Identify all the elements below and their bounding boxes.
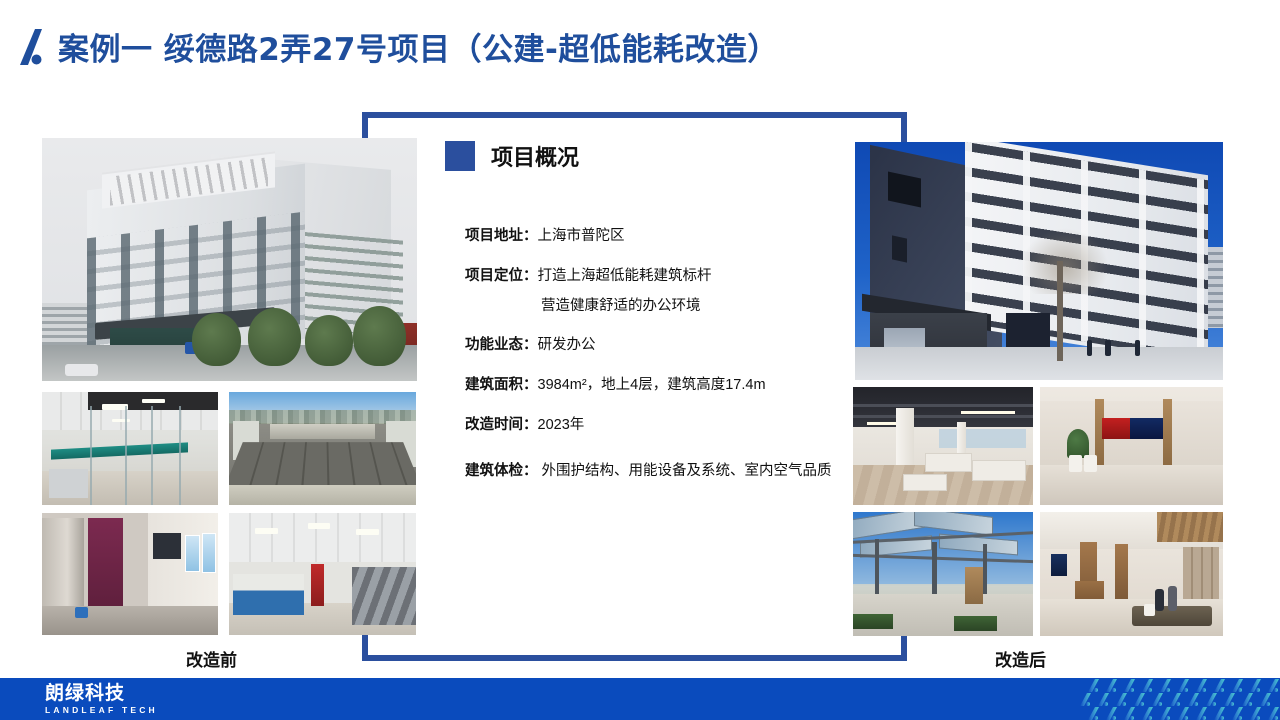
field-value: 打造上海超低能耗建筑标杆 [538,266,712,288]
field-value: 研发办公 [538,335,596,357]
photo-before-main-tree-4 [353,306,406,367]
photo-before-thumb-2 [229,392,416,505]
thumb-penthouse [270,424,375,440]
thumb-light-3 [356,529,378,535]
field-project-positioning-line2: 营造健康舒适的办公环境 [465,296,865,318]
photo-after-main-tree-trunk [1057,261,1063,361]
thumb-light-3 [112,419,130,422]
thumb-waffle-wall [1183,547,1220,599]
slide-footer: 朗绿科技 LANDLEAF TECH [0,678,1280,720]
thumb-ceiling-grid [229,513,416,562]
thumb-desk-1 [925,453,972,472]
thumb-plant-1 [1067,429,1089,457]
field-label: 功能业态： [465,335,538,357]
landleaf-logo-icon [18,27,48,67]
slide-root: 案例一 绥德路2弄27号项目（公建-超低能耗改造） [0,0,1280,720]
thumb-wall-screen [1051,554,1067,576]
thumb-purple-wall [88,518,123,611]
thumb-red-cabinet [311,564,324,605]
field-label: 建筑体检： [465,463,538,479]
caption-after: 改造后 [995,646,1046,671]
thumb-window-band [939,429,1025,448]
thumb-machines [352,567,416,626]
photo-after-main-person-2 [1105,340,1111,357]
footer-brand-en: LANDLEAF TECH [45,706,158,715]
thumb-equipment [49,469,88,498]
thumb-wood-screen [965,567,983,604]
thumb-led-screen-red [1102,418,1129,439]
field-value: 3984m²，地上4层，建筑高度17.4m [538,375,766,397]
photo-after-thumb-4 [1040,512,1223,636]
thumb-light-strip-1 [961,411,1015,415]
photo-after-main-tree-canopy [1021,228,1109,295]
photo-after-main-person-3 [1135,340,1141,357]
page-title: 案例一 绥德路2弄27号项目（公建-超低能耗改造） [58,24,779,69]
field-label: 项目地址： [465,226,538,248]
thumb-poster-2 [202,533,216,573]
field-label: 改造时间： [465,415,538,437]
thumb-hedge-2 [954,616,997,631]
thumb-person-2 [1168,586,1177,611]
slide-header: 案例一 绥德路2弄27号项目（公建-超低能耗改造） [18,24,779,69]
thumb-light-2 [142,399,165,404]
thumb-parapet [229,485,416,505]
thumb-person-1 [1155,589,1164,611]
thumb-beam-2 [853,415,1033,418]
thumb-poster-1 [185,535,201,572]
photo-after-thumb-1 [853,387,1033,505]
frame-bottom-line [362,655,907,661]
thumb-blue-bin [75,607,87,618]
photo-after-main-side-notch [892,236,907,263]
photo-before-thumb-4 [229,513,416,635]
field-building-audit: 建筑体检： 外围护结构、用能设备及系统、室内空气品质 [465,455,865,488]
thumb-elevator-doors [42,518,84,616]
field-project-address: 项目地址： 上海市普陀区 [465,226,865,248]
photo-before-thumb-3 [42,513,218,635]
field-label: 项目定位： [465,266,538,288]
thumb-glass-mullion-1 [90,406,92,505]
photo-after-main [855,142,1223,380]
field-renovation-year: 改造时间： 2023年 [465,415,865,437]
project-overview-panel: 项目概况 项目地址： 上海市普陀区 项目定位： 打造上海超低能耗建筑标杆 营造健… [445,140,865,505]
thumb-glass-mullion-3 [151,406,153,505]
thumb-glass-mullion-2 [125,406,127,505]
field-project-positioning: 项目定位： 打造上海超低能耗建筑标杆 [465,266,865,288]
frame-top-line [362,112,907,118]
photo-before-main-tree-1 [192,313,241,366]
field-value: 外围护结构、用能设备及系统、室内空气品质 [542,463,832,479]
thumb-floor [1040,465,1223,505]
photo-before-main-tree-3 [305,315,354,366]
photo-before-main-car [65,364,99,376]
thumb-planter-2 [1084,455,1097,472]
field-function-type: 功能业态： 研发办公 [465,335,865,357]
thumb-column-3 [983,544,988,599]
footer-brand: 朗绿科技 LANDLEAF TECH [45,684,158,715]
photo-after-main-ground [855,347,1223,380]
thumb-wood-column-2 [1115,544,1128,599]
thumb-desk-3 [903,474,946,491]
photo-after-thumb-2 [1040,387,1223,505]
footer-pattern-decoration [1080,678,1280,720]
panel-accent-square-icon [445,141,475,171]
thumb-floor [42,606,218,635]
thumb-side-table [1144,604,1155,616]
field-value: 营造健康舒适的办公环境 [541,296,701,318]
project-field-list: 项目地址： 上海市普陀区 项目定位： 打造上海超低能耗建筑标杆 营造健康舒适的办… [465,226,865,487]
panel-title: 项目概况 [491,140,579,172]
thumb-beam-1 [853,404,1033,407]
field-value: 2023年 [538,415,585,437]
thumb-lab-bench [233,574,304,615]
panel-header: 项目概况 [445,140,865,172]
photo-after-main-person-1 [1087,340,1093,357]
photo-before-main [42,138,417,381]
thumb-desk-2 [972,460,1026,481]
thumb-planter-1 [1069,455,1082,472]
field-value: 上海市普陀区 [538,226,625,248]
thumb-glass-mullion-4 [179,406,181,505]
caption-before: 改造前 [186,646,237,671]
photo-before-main-tree-2 [248,308,301,366]
frame-left-top-stub [362,112,368,140]
field-label: 建筑面积： [465,375,538,397]
thumb-hedge-1 [853,614,893,629]
thumb-exposed-ceiling [853,387,1033,427]
thumb-light-1 [255,528,277,534]
thumb-wood-panel-2 [1163,399,1172,467]
thumb-dark-board [153,533,181,560]
photo-before-thumb-1 [42,392,218,505]
thumb-led-screen-blue [1130,418,1163,439]
thumb-wood-ceiling [1157,512,1223,542]
field-building-area: 建筑面积： 3984m²，地上4层，建筑高度17.4m [465,375,865,397]
photo-after-thumb-3 [853,512,1033,636]
footer-brand-cn: 朗绿科技 [45,684,158,703]
thumb-light-2 [308,523,330,529]
